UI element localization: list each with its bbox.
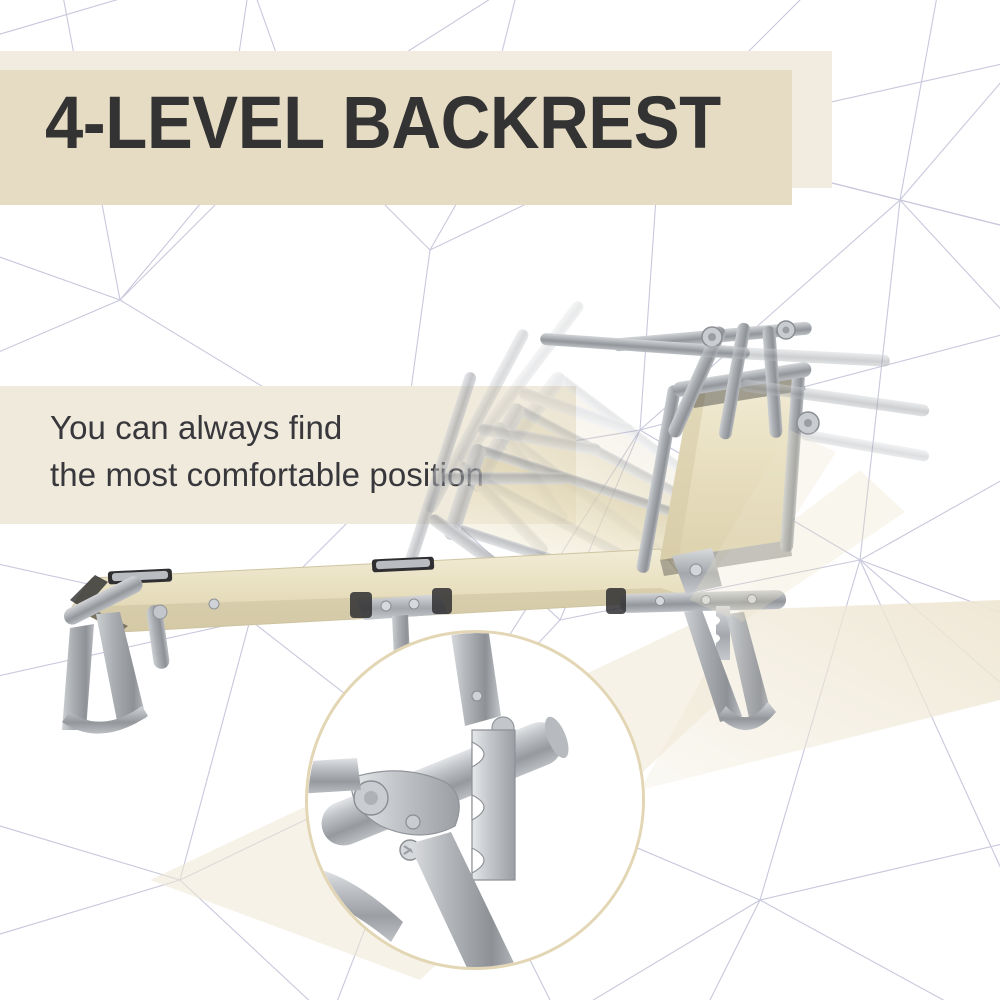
feature-graphic-canvas: 4-LEVEL BACKREST You can always find the… [0, 0, 1000, 1000]
detail-zoom-callout [305, 630, 645, 970]
reclining-notch-bracket-icon [305, 630, 645, 970]
lounger-bed [70, 549, 700, 632]
